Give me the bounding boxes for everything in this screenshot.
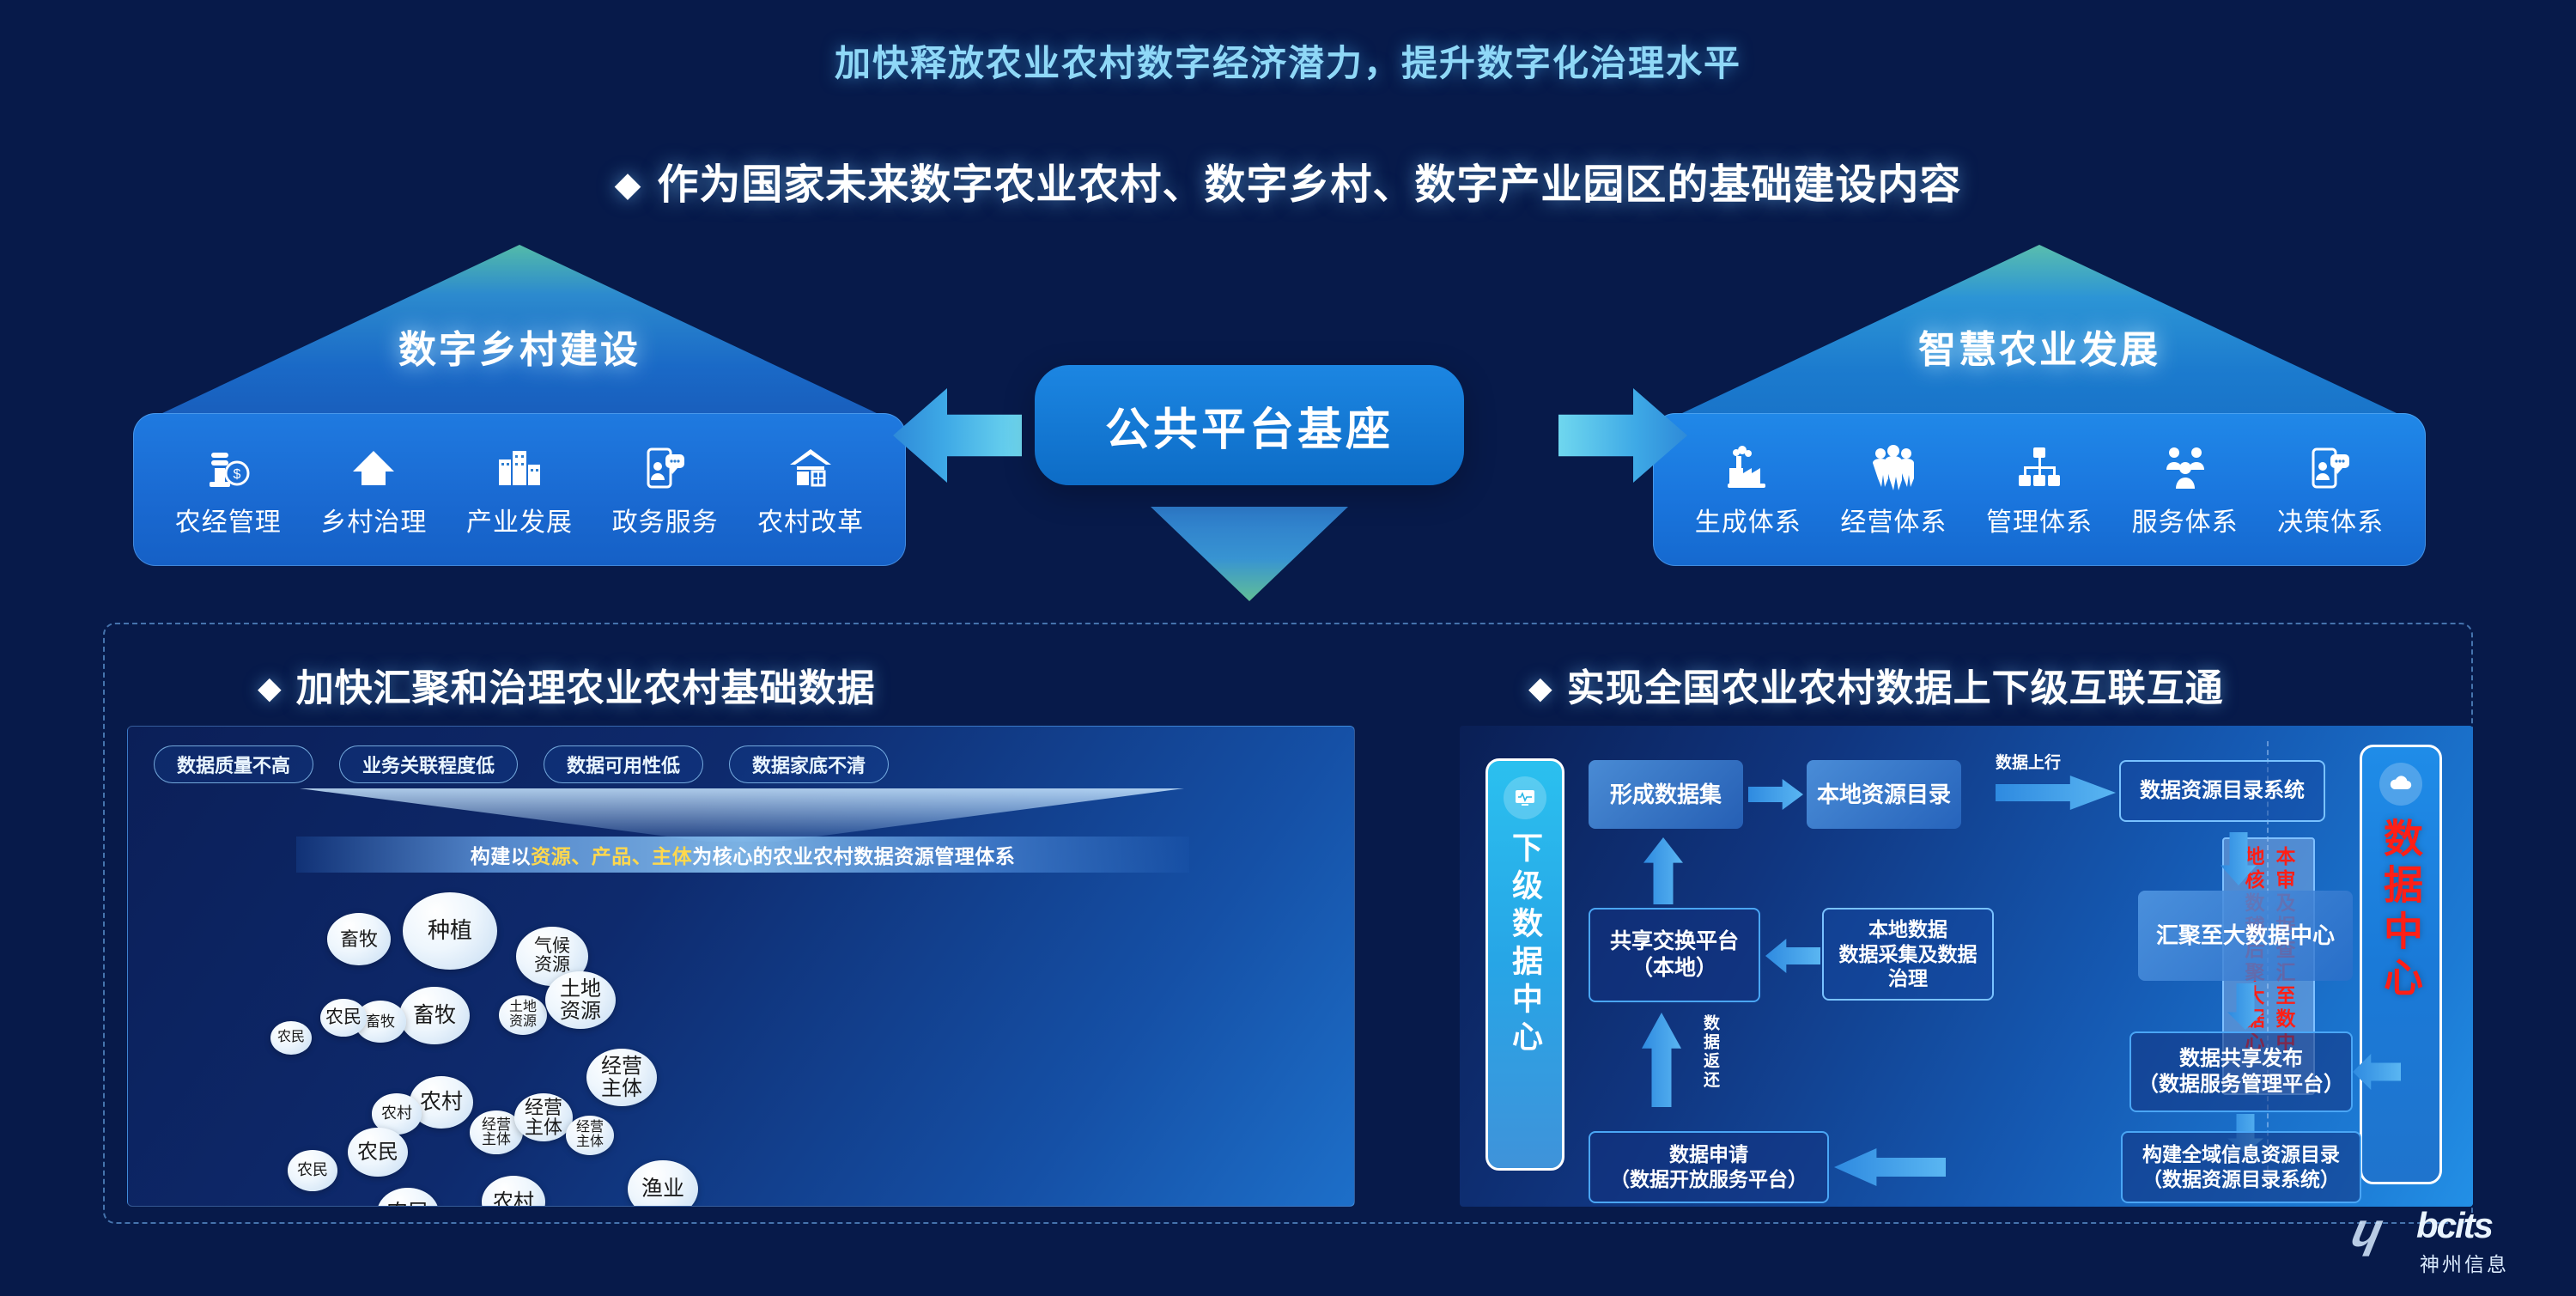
diamond-bullet-icon: ◆ [615,166,642,204]
banner-prefix: 构建以 [471,840,532,869]
wing-smart-agriculture: 智慧农业发展 生成体系 经营体系 管理体系 服务体系 决策体系 [1653,245,2426,571]
money-stack-icon: $ [204,441,252,492]
wing-item-决策体系[interactable]: 决策体系 [2262,441,2399,538]
chaos-bubble: 土地 资源 [545,971,616,1029]
left-data-governance-panel: 数据质量不高 业务关联程度低 数据可用性低 数据家底不清 构建以资源、产品、主体… [127,726,1355,1207]
sub-data-center-column[interactable]: 下级数据中心 [1485,758,1564,1171]
cloud-icon [2379,763,2422,806]
chaos-bubble: 农民 [320,999,367,1037]
roof-label-right: 智慧农业发展 [1653,319,2426,374]
svg-text:$: $ [233,467,240,482]
section-title-left: ◆加快汇聚和治理农业农村基础数据 [258,657,876,712]
people-group-icon [1869,441,1917,492]
problem-pill-row: 数据质量不高 业务关联程度低 数据可用性低 数据家底不清 [154,745,1330,783]
data-center-column[interactable]: 数据中心 [2360,745,2442,1184]
flow-box-form-dataset[interactable]: 形成数据集 [1589,760,1743,829]
chaos-bubble: 土地 资源 [499,995,547,1035]
banner-highlight: 资源、产品、主体 [531,840,692,869]
flow-box-line2: 数据采集及数据治理 [1831,942,1985,992]
wing-item-label: 管理体系 [1986,501,2093,538]
wing-item-label: 服务体系 [2132,501,2239,538]
flow-box-line1: 数据申请 [1669,1142,1748,1167]
flow-box-local-data[interactable]: 本地数据 数据采集及数据治理 [1822,908,1994,1001]
chaos-bubble: 经营 主体 [566,1116,614,1155]
flow-box-line2: （数据开放服务平台） [1610,1167,1807,1192]
flow-box-local-catalog[interactable]: 本地资源目录 [1807,760,1961,829]
buildings-icon [495,441,544,492]
core-system-banner: 构建以资源、产品、主体为核心的农业农村数据资源管理体系 [296,837,1189,873]
data-center-label: 数据中心 [2372,818,2429,1003]
flow-box-share-exchange[interactable]: 共享交换平台 （本地） [1589,908,1760,1002]
logo-chinese-name: 神州信息 [2420,1248,2509,1277]
wing-body-left: $ 农经管理 乡村治理 产业发展 政务服务 农村改革 [133,413,906,566]
problem-pill[interactable]: 数据可用性低 [544,745,703,783]
flow-box-line1: 本地数据 [1868,917,1947,942]
section-title-left-text: 加快汇聚和治理农业农村基础数据 [296,667,876,709]
home-reform-icon [787,441,835,492]
section-title-right: ◆实现全国农业农村数据上下级互联互通 [1528,657,2224,712]
arrow-left-icon [1834,1148,1946,1186]
flow-label-uplink: 数据上行 [1996,750,2061,773]
chaos-bubble: 农民 [270,1021,312,1055]
chaos-bubble: 农民 [377,1188,439,1207]
arrow-right-icon [1996,776,2116,810]
wing-item-label: 乡村治理 [320,501,427,538]
mobile-decision-icon [2306,441,2354,492]
funnel-shape [300,788,1184,842]
chaos-bubble: 农民 [288,1150,337,1191]
house-icon [349,441,398,492]
sub-data-center-label: 下级数据中心 [1503,831,1547,1058]
chaos-bubble: 畜牧 [327,913,391,965]
wing-item-乡村治理[interactable]: 乡村治理 [305,441,442,538]
flow-box-line1: 数据共享发布 [2179,1046,2303,1072]
wing-item-经营体系[interactable]: 经营体系 [1825,441,1962,538]
page-title: 加快释放农业农村数字经济潜力，提升数字化治理水平 [0,34,2576,87]
wing-item-农村改革[interactable]: 农村改革 [742,441,879,538]
right-interconnect-panel: 下级数据中心 数据中心 形成数据集 本地资源目录 数据上行 数据资源目录系统 共… [1460,726,2473,1207]
banner-suffix: 为核心的农业农村数据资源管理体系 [692,840,1015,869]
chaos-bubble: 农民 [348,1128,408,1177]
problem-pill[interactable]: 数据家底不清 [729,745,889,783]
chaos-bubble: 种植 [403,892,497,970]
flow-box-share-publish[interactable]: 数据共享发布 （数据服务管理平台） [2129,1031,2353,1112]
wing-item-label: 决策体系 [2277,501,2384,538]
section-title-right-text: 实现全国农业农村数据上下级互联互通 [1567,667,2224,709]
wing-item-label: 农经管理 [175,501,282,538]
people-service-icon [2161,441,2209,492]
flow-box-gather-bigdata[interactable]: 汇聚至大数据中心 [2138,891,2353,981]
flow-label-return: 数据返还 [1698,1014,1722,1090]
company-logo: ɥ bcits 神州信息 [2353,1198,2550,1284]
page-subtitle-text: 作为国家未来数字农业农村、数字乡村、数字产业园区的基础建设内容 [657,162,1961,208]
arrow-left-icon [893,388,1022,483]
monitor-pulse-icon [1504,776,1546,819]
wing-item-产业发展[interactable]: 产业发展 [451,441,588,538]
chaos-bubble: 畜牧 [399,987,470,1044]
diamond-bullet-icon: ◆ [1528,670,1553,705]
wing-digital-village: 数字乡村建设 $ 农经管理 乡村治理 产业发展 政务服务 农村改革 [133,245,906,571]
wing-item-label: 农村改革 [757,501,864,538]
wing-item-label: 经营体系 [1840,501,1947,538]
flow-box-global-catalog[interactable]: 构建全域信息资源目录 （数据资源目录系统） [2121,1131,2361,1203]
flow-box-line2: （数据资源目录系统） [2142,1167,2340,1192]
platform-base-pill[interactable]: 公共平台基座 [1035,365,1464,485]
factory-icon [1724,441,1772,492]
wing-item-政务服务[interactable]: 政务服务 [597,441,734,538]
wing-item-管理体系[interactable]: 管理体系 [1971,441,2108,538]
wing-item-label: 政务服务 [612,501,719,538]
chaos-bubble: 经营 主体 [514,1093,573,1141]
flow-box-data-apply[interactable]: 数据申请 （数据开放服务平台） [1589,1131,1829,1203]
chaos-bubble: 渔业 [628,1160,698,1207]
flow-box-line1: 共享交换平台 [1610,928,1739,955]
flow-box-line1: 构建全域信息资源目录 [2142,1142,2340,1167]
flow-box-line2: （本地） [1631,955,1717,982]
org-chart-icon [2015,441,2063,492]
problem-pill[interactable]: 数据质量不高 [154,745,313,783]
diamond-bullet-icon: ◆ [258,670,283,705]
arrow-left-icon [1765,939,1820,973]
logo-swoosh-icon: ɥ [2347,1202,2388,1257]
arrow-right-icon [1748,779,1803,810]
page-subtitle: ◆作为国家未来数字农业农村、数字乡村、数字产业园区的基础建设内容 [0,150,2576,210]
problem-pill[interactable]: 业务关联程度低 [339,745,518,783]
roof-label-left: 数字乡村建设 [133,319,906,374]
wing-item-服务体系[interactable]: 服务体系 [2117,441,2254,538]
flow-box-catalog-system[interactable]: 数据资源目录系统 [2119,760,2325,822]
wing-item-label: 产业发展 [466,501,573,538]
chaos-bubble: 农村 [482,1176,545,1207]
arrow-up-icon [1642,1013,1681,1107]
flow-box-line2: （数据服务管理平台） [2138,1072,2344,1098]
wing-body-right: 生成体系 经营体系 管理体系 服务体系 决策体系 [1653,413,2426,566]
mobile-service-icon [641,441,690,492]
arrow-down-icon [1151,507,1348,601]
chaos-bubble: 经营 主体 [586,1049,657,1106]
logo-wordmark: bcits [2416,1205,2492,1246]
wing-item-生成体系[interactable]: 生成体系 [1680,441,1817,538]
arrow-up-icon [1643,837,1683,904]
wing-item-农经管理[interactable]: $ 农经管理 [160,441,297,538]
wing-item-label: 生成体系 [1695,501,1801,538]
